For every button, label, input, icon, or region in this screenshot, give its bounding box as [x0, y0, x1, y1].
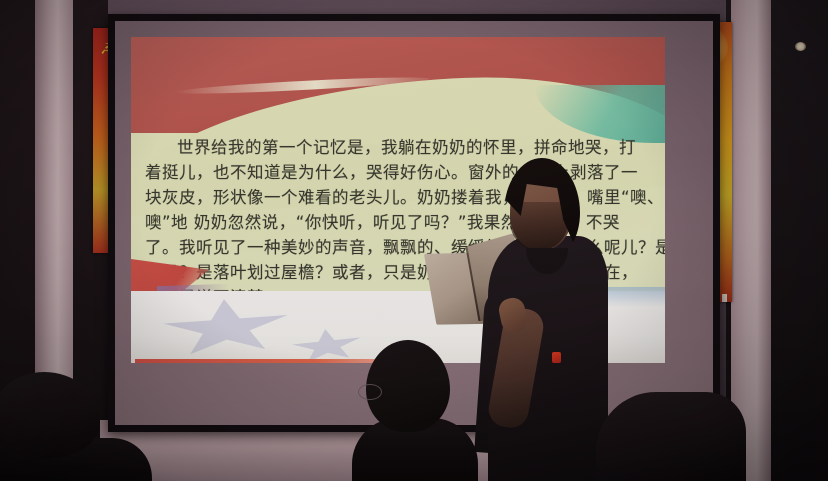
poster-cord	[722, 294, 727, 302]
lapel-pin-icon	[552, 352, 561, 363]
teacher-reading	[480, 156, 610, 481]
student-left-head	[0, 372, 100, 458]
ceiling-light-icon	[795, 42, 806, 51]
left-pillar	[35, 0, 73, 430]
student-left	[0, 372, 140, 481]
student-center	[352, 340, 478, 481]
glasses-icon	[358, 384, 382, 400]
classroom-photo-scene: ☭ 党的光辉 世界给我的第一个记忆是，我躺在奶奶的怀里，拼命地哭，打 着挺儿，也…	[0, 0, 828, 481]
student-right	[596, 392, 746, 481]
